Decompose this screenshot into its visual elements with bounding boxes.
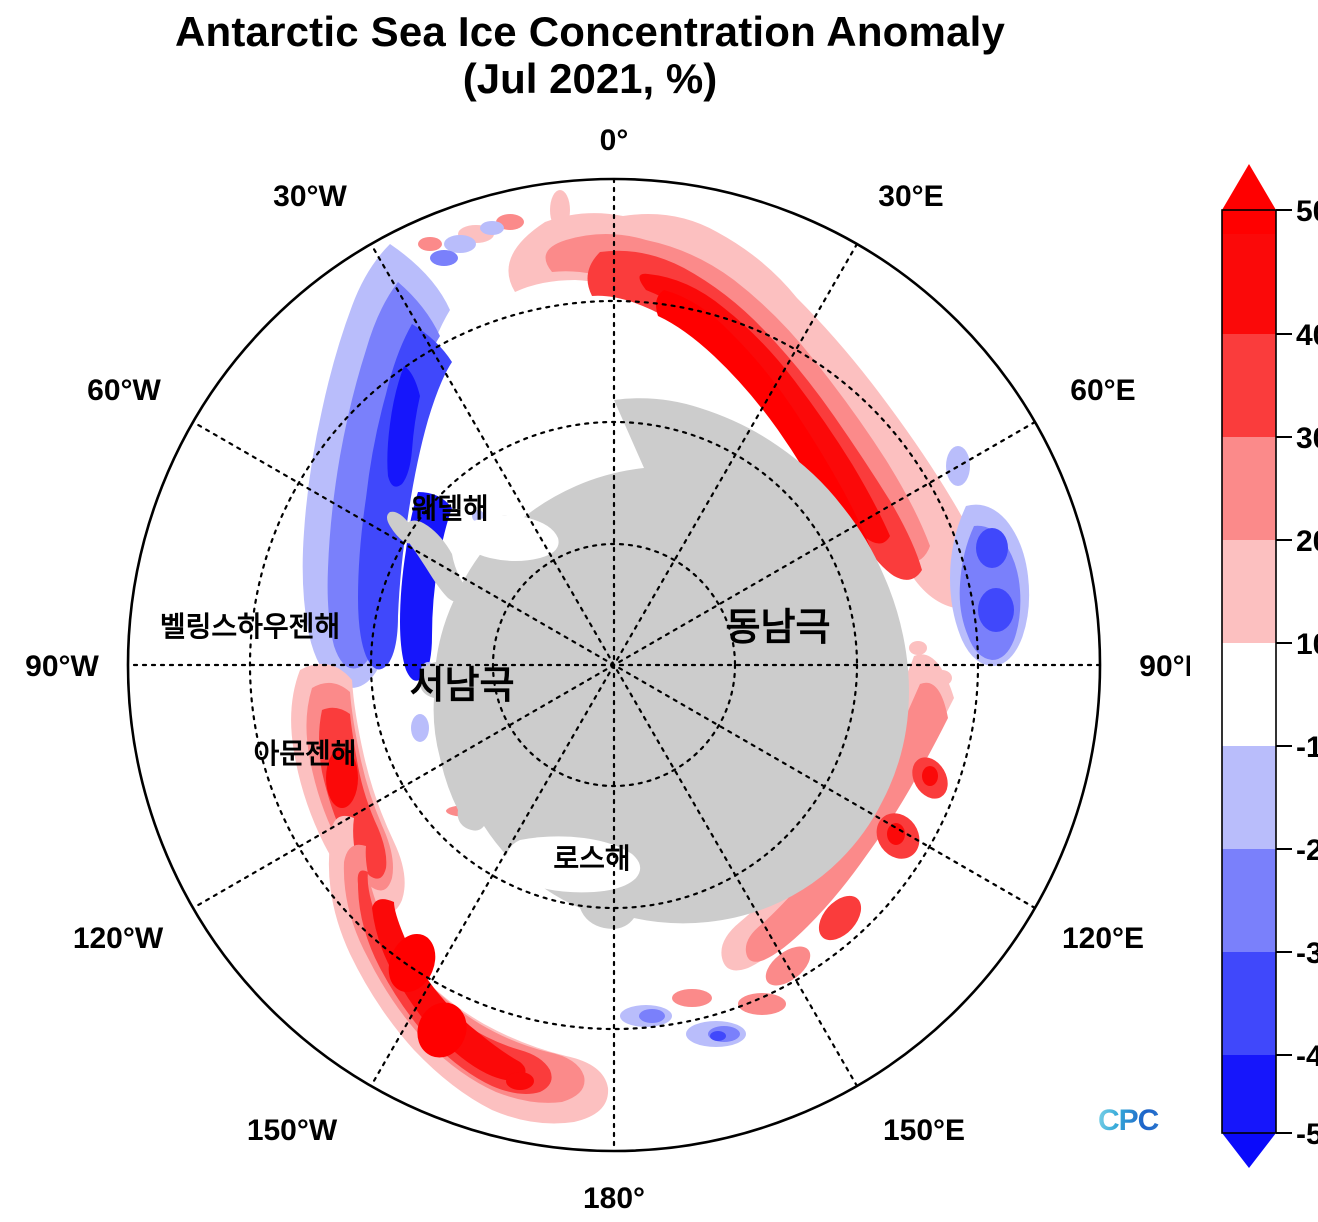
anomaly-patch-pos — [550, 190, 570, 230]
anomaly-patch-neg — [430, 250, 458, 266]
page-subtitle: (Jul 2021, %) — [0, 55, 1180, 102]
anomaly-patch-pos-peak — [922, 766, 938, 786]
region-label-weddell-sea: 웨델해 — [411, 493, 488, 524]
anomaly-patch-neg — [480, 221, 504, 235]
colorbar-tick-m10: -10 — [1296, 731, 1318, 764]
region-label-amundsen-sea: 아문젠해 — [253, 738, 356, 769]
anomaly-patch-pos — [506, 1072, 534, 1090]
lon-label-30w: 30°W — [273, 180, 347, 213]
anomaly-patch-neg — [639, 1009, 665, 1023]
colorbar-band-10-20 — [1222, 540, 1276, 643]
lon-label-60e: 60°E — [1070, 374, 1135, 407]
colorbar-band-m50-m40 — [1222, 1055, 1276, 1133]
anomaly-patch-pos — [909, 641, 927, 655]
colorbar-band-m40-m30 — [1222, 952, 1276, 1055]
anomaly-patch-neg — [411, 714, 429, 742]
colorbar-band-m30-m20 — [1222, 849, 1276, 952]
anomaly-patch-neg — [946, 446, 970, 486]
colorbar-band-40-50 — [1222, 234, 1276, 334]
lon-label-150e: 150°E — [883, 1114, 965, 1147]
colorbar[interactable]: 50 40 30 20 10 -10 -20 -30 -40 -50 — [1196, 150, 1318, 1170]
colorbar-tick-m40: -40 — [1296, 1040, 1318, 1073]
colorbar-extend-min — [1222, 1133, 1276, 1168]
lon-label-60w: 60°W — [87, 374, 161, 407]
colorbar-tick-30: 30 — [1296, 422, 1318, 455]
anomaly-patch-pos — [932, 670, 952, 686]
anomaly-patch-neg — [976, 528, 1008, 568]
page-title: Antarctic Sea Ice Concentration Anomaly — [0, 8, 1180, 55]
colorbar-tick-labels: 50 40 30 20 10 -10 -20 -30 -40 -50 — [1296, 195, 1318, 1151]
anomaly-patch-pos — [672, 989, 712, 1007]
colorbar-tick-m30: -30 — [1296, 937, 1318, 970]
colorbar-ticks — [1276, 210, 1292, 1133]
lon-label-0: 0° — [600, 124, 629, 157]
anomaly-patch-neg — [444, 235, 476, 253]
anomaly-patch-pos — [418, 237, 442, 251]
colorbar-extend-max — [1222, 164, 1276, 210]
lon-label-90w: 90°W — [25, 650, 99, 683]
lon-label-120w: 120°W — [73, 922, 164, 955]
lon-label-120e: 120°E — [1062, 922, 1144, 955]
region-label-east-antarctica: 동남극 — [726, 607, 831, 649]
region-label-bellingshausen-sea: 벨링스하우젠해 — [160, 611, 340, 642]
cpc-logo: CPC — [1098, 1104, 1194, 1144]
anomaly-patch-neg — [710, 1031, 726, 1041]
colorbar-band-neutral — [1222, 643, 1276, 746]
colorbar-tick-m50: -50 — [1296, 1118, 1318, 1151]
colorbar-band-20-30 — [1222, 437, 1276, 540]
chart-title-block: Antarctic Sea Ice Concentration Anomaly … — [0, 8, 1180, 102]
colorbar-tick-10: 10 — [1296, 628, 1318, 661]
lon-label-30e: 30°E — [878, 180, 943, 213]
lon-label-90e: 90°E — [1139, 650, 1190, 683]
colorbar-tick-40: 40 — [1296, 319, 1318, 352]
anomaly-patch-neg — [978, 588, 1014, 632]
region-label-west-antarctica: 서남극 — [410, 665, 515, 707]
polar-map: 웨델해 벨링스하우젠해 아문젠해 로스해 서남극 동남극 0° 30°E 60°… — [0, 118, 1190, 1222]
colorbar-tick-m20: -20 — [1296, 834, 1318, 867]
lon-label-180: 180° — [583, 1182, 645, 1215]
colorbar-band-50-60 — [1222, 210, 1276, 234]
colorbar-band-m20-m10 — [1222, 746, 1276, 849]
colorbar-band-30-40 — [1222, 334, 1276, 437]
colorbar-tick-20: 20 — [1296, 525, 1318, 558]
region-label-ross-sea: 로스해 — [553, 843, 630, 874]
colorbar-tick-50: 50 — [1296, 195, 1318, 228]
anomaly-patch-pos — [738, 993, 786, 1015]
lon-label-150w: 150°W — [247, 1114, 338, 1147]
anomaly-patch-pos-peak — [887, 823, 905, 845]
